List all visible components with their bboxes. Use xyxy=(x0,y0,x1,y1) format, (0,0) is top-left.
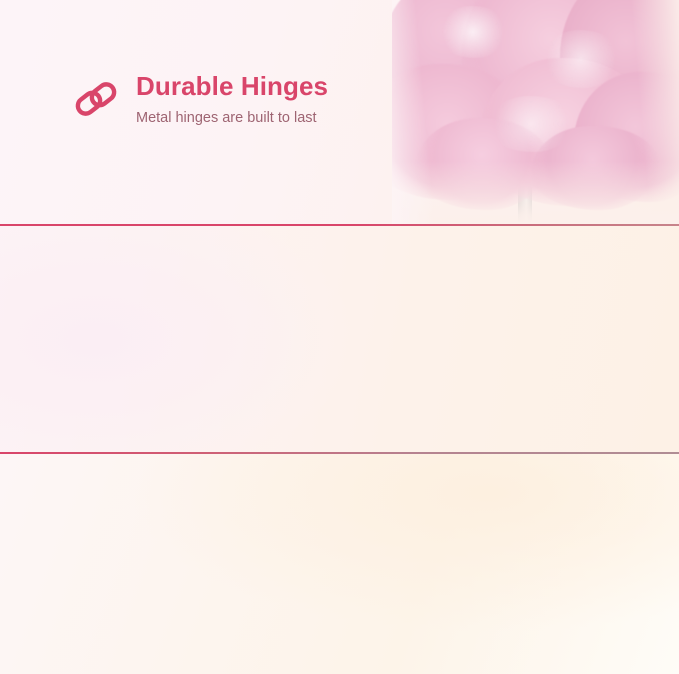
feature-panel-pvc: PVC Branches Realistic, Flame-retardant … xyxy=(0,226,679,452)
chain-link-icon xyxy=(70,70,122,128)
feature-hinges-text: Durable Hinges Metal hinges are built to… xyxy=(122,70,328,128)
product-feature-infographic: Durable Hinges Metal hinges are built to… xyxy=(0,0,679,674)
feature-hinges: Durable Hinges Metal hinges are built to… xyxy=(70,70,328,128)
feature-panel-hinges: Durable Hinges Metal hinges are built to… xyxy=(0,0,679,224)
feature-title: Durable Hinges xyxy=(136,72,328,102)
panel-background xyxy=(0,454,679,674)
feature-subtitle: Metal hinges are built to last xyxy=(136,102,328,128)
pink-christmas-tree-photo xyxy=(392,0,679,224)
feature-panel-base: Sturdy Base Strong, stable stand xyxy=(0,454,679,674)
panel-background xyxy=(0,226,679,452)
